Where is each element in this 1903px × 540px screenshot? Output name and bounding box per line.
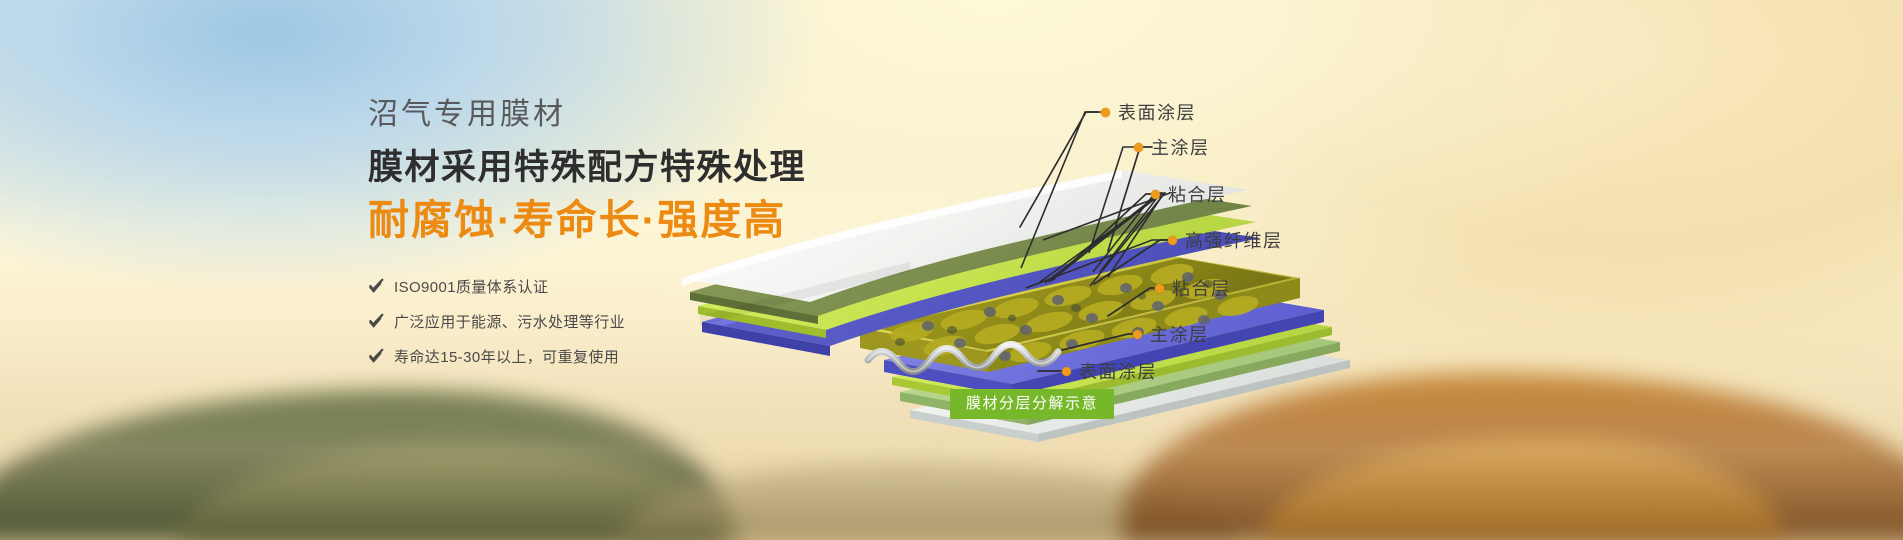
list-item-label: 广泛应用于能源、污水处理等行业 <box>394 311 625 332</box>
check-icon <box>368 278 385 295</box>
status-badge: 膜材分层分解示意 <box>950 389 1114 419</box>
list-item-label: 寿命达15-30年以上，可重复使用 <box>394 346 619 367</box>
list-item-label: ISO9001质量体系认证 <box>394 276 548 297</box>
hero-banner: 沼气专用膜材 膜材采用特殊配方特殊处理 耐腐蚀·寿命长·强度高 ISO9001质… <box>0 0 1903 540</box>
check-icon <box>368 348 385 365</box>
check-icon <box>368 313 385 330</box>
